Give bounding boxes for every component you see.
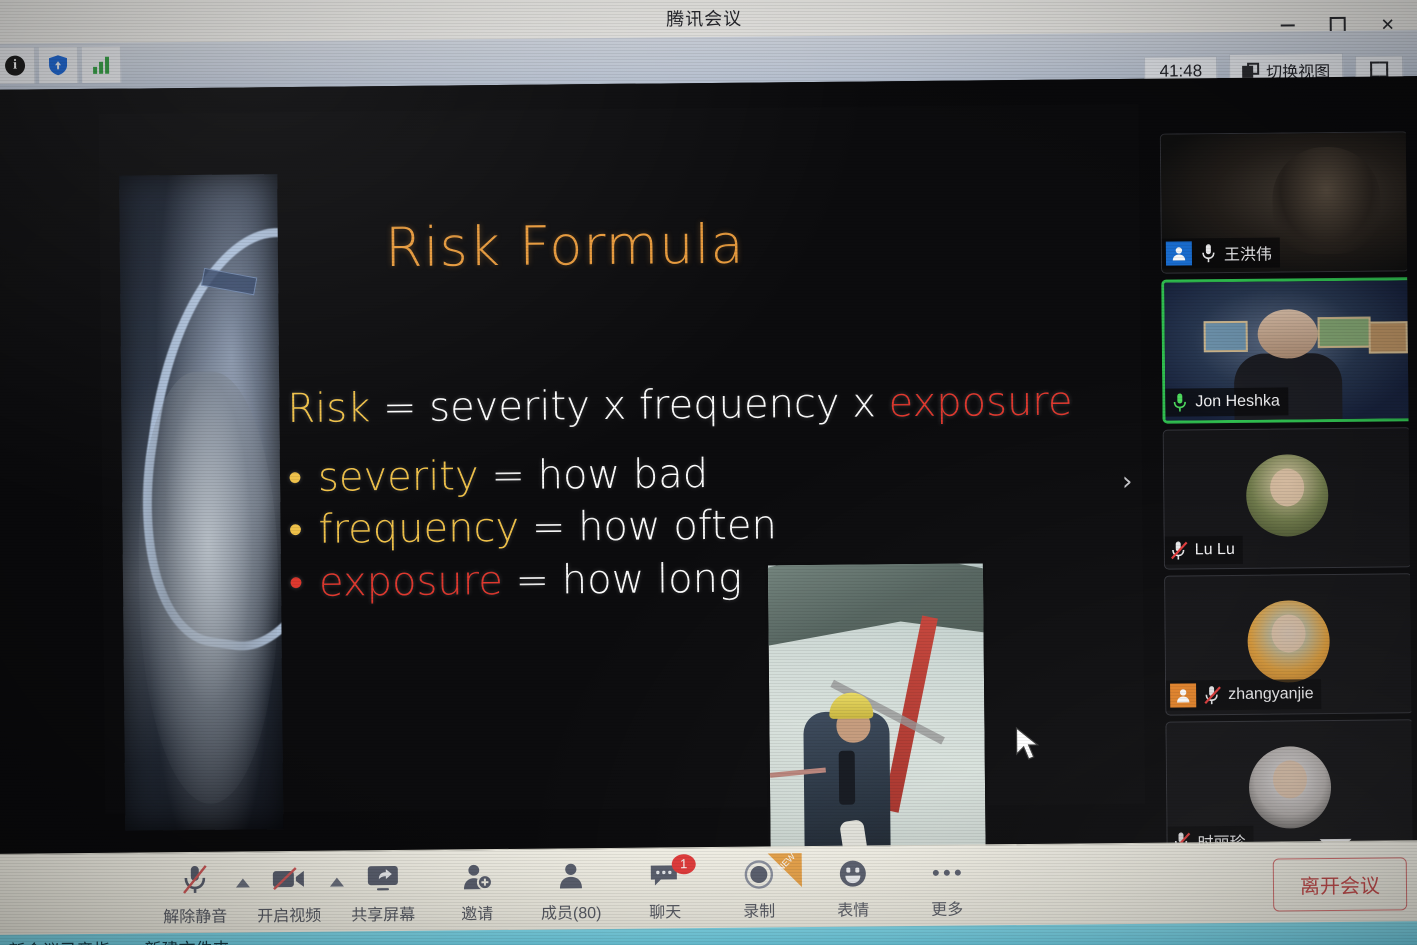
bullet-marker: • (289, 557, 320, 610)
chat-button[interactable]: 1 聊天 (618, 858, 713, 923)
risk-formula-line: Risk = severity x frequency x exposure (287, 379, 1073, 433)
toolbar-items: 解除静音 开启视频 共享屏幕 邀请 (148, 855, 995, 927)
participant-tile[interactable]: Jon Heshka (1161, 277, 1412, 423)
leave-meeting-button[interactable]: 离开会议 (1273, 857, 1408, 911)
participant-footer: zhangyanjie (1166, 679, 1322, 710)
avatar (1246, 454, 1329, 537)
participant-footer: 王洪伟 (1162, 238, 1280, 269)
host-badge-icon (1166, 241, 1192, 265)
new-ribbon-badge: NEW (768, 853, 802, 887)
participant-tile[interactable]: 时丽珍 (1165, 719, 1412, 849)
mic-active-icon (1169, 391, 1189, 413)
list-item: •severity = how bad (288, 447, 777, 504)
formula-exposure-word: exposure (888, 379, 1072, 427)
invite-user-icon (457, 860, 497, 894)
background-picture (1204, 320, 1248, 352)
participant-name: Jon Heshka (1195, 393, 1280, 412)
bullet-key: frequency (318, 505, 519, 553)
formula-risk-word: Risk (287, 385, 370, 432)
participant-tile[interactable]: zhangyanjie (1164, 573, 1413, 715)
status-icon-group: i (0, 47, 121, 84)
participant-footer: Jon Heshka (1165, 387, 1288, 416)
bullet-rest: = how often (519, 503, 777, 551)
unmute-button[interactable]: 解除静音 (148, 862, 243, 927)
mic-muted-icon (175, 863, 215, 897)
bullet-rest: = how long (503, 555, 743, 603)
collapse-panel-chevron-icon[interactable]: › (1122, 467, 1133, 497)
shared-slide[interactable]: Risk Formula Risk = severity x frequency… (99, 104, 1146, 814)
toolbar-label: 表情 (837, 896, 869, 920)
new-ribbon-label: NEW (775, 851, 797, 873)
bullet-marker: • (288, 452, 319, 505)
list-item: •exposure = how long (289, 552, 778, 609)
shield-icon[interactable] (39, 47, 78, 83)
slide-title: Risk Formula (100, 210, 1031, 282)
mic-muted-icon (1202, 684, 1222, 706)
toolbar-label: 开启视频 (257, 902, 321, 927)
participant-footer: Lu Lu (1165, 536, 1243, 565)
emoji-icon (833, 856, 873, 890)
participant-tile[interactable]: 王洪伟 (1160, 131, 1409, 273)
background-picture (1317, 317, 1370, 349)
screen-surface: 腾讯会议 ✕ i 41:48 (0, 0, 1417, 945)
shield-glyph (48, 54, 68, 76)
bullet-key: exposure (319, 558, 503, 606)
formula-middle: = severity x frequency x (370, 380, 889, 431)
chat-unread-badge: 1 (672, 854, 696, 874)
camera-off-icon (269, 862, 309, 896)
speaker-head (1258, 309, 1318, 359)
meeting-stage: Risk Formula Risk = severity x frequency… (0, 76, 1417, 860)
worker-harness (838, 750, 855, 804)
bridge-hillside (765, 560, 989, 693)
participant-name: 王洪伟 (1224, 241, 1272, 265)
toolbar-label: 录制 (743, 897, 775, 921)
participant-tile[interactable]: Lu Lu (1163, 427, 1412, 569)
info-icon[interactable]: i (0, 47, 35, 83)
more-button[interactable]: 更多 (900, 855, 995, 920)
mic-on-icon (1198, 242, 1218, 264)
start-video-button[interactable]: 开启视频 (242, 862, 337, 927)
taskbar-item[interactable]: 新建文件夹 (144, 935, 229, 945)
share-screen-icon (363, 861, 403, 895)
participants-icon (551, 859, 591, 893)
background-picture (1369, 322, 1408, 354)
toolbar-label: 共享屏幕 (351, 901, 415, 926)
toolbar-label: 邀请 (461, 900, 493, 924)
avatar (1247, 600, 1330, 683)
switch-view-icon (1242, 63, 1259, 79)
invite-button[interactable]: 邀请 (430, 860, 525, 925)
emoji-button[interactable]: 表情 (806, 856, 901, 921)
fullscreen-icon (1370, 61, 1388, 77)
signal-bars-icon[interactable] (82, 47, 121, 83)
bullet-key: severity (318, 453, 479, 501)
bullet-marker: • (288, 504, 319, 557)
avatar (1249, 746, 1332, 829)
toolbar-label: 聊天 (649, 898, 681, 922)
list-item: •frequency = how often (288, 500, 777, 557)
cohost-badge-icon (1170, 683, 1196, 707)
bullet-rest: = how bad (478, 451, 708, 499)
more-dots-icon (927, 856, 967, 890)
bridge-worker-photo (765, 560, 989, 888)
slide-bullet-list: •severity = how bad •frequency = how oft… (288, 447, 778, 609)
toolbar-label: 解除静音 (163, 903, 227, 928)
mic-muted-icon (1169, 539, 1189, 561)
record-button[interactable]: NEW 录制 (712, 857, 807, 922)
toolbar-label: 更多 (931, 896, 963, 920)
participant-name: Lu Lu (1195, 541, 1235, 559)
photographed-screen: 腾讯会议 ✕ i 41:48 (0, 0, 1417, 945)
share-screen-button[interactable]: 共享屏幕 (336, 861, 431, 926)
participant-name: zhangyanjie (1228, 685, 1314, 704)
toolbar-label: 成员(80) (541, 899, 602, 924)
taskbar-item[interactable]: 新会议录音指 (8, 936, 110, 945)
participants-button[interactable]: 成员(80) (524, 859, 619, 924)
participant-rail[interactable]: 王洪伟 Jon Heshka (1160, 131, 1413, 849)
